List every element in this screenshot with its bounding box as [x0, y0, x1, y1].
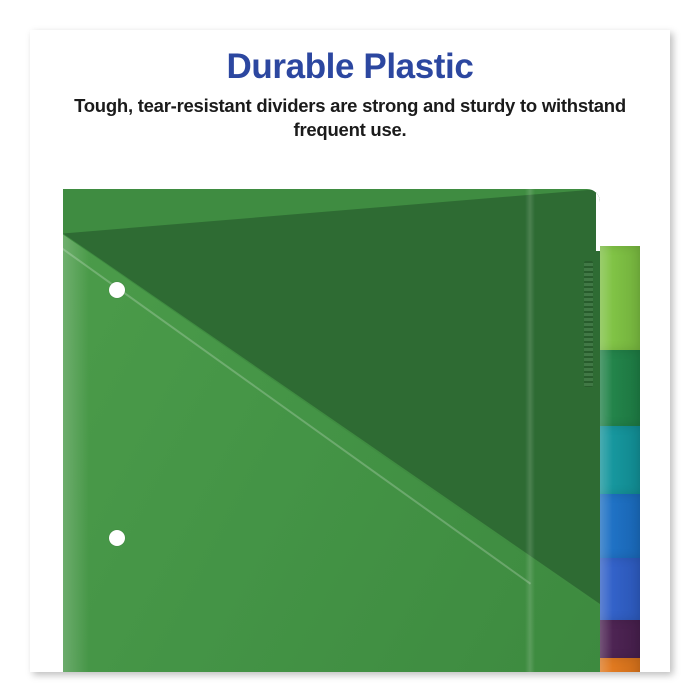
tab-teal: [596, 426, 640, 494]
tab-lime-green: [596, 246, 640, 350]
tab-blue: [596, 494, 640, 558]
punch-hole-bottom: [109, 530, 125, 546]
product-image-stage: Durable Plastic Tough, tear-resistant di…: [0, 0, 700, 700]
left-edge-sheen: [63, 189, 89, 672]
tab-royal-blue: [596, 558, 640, 620]
tab-dark-green: [596, 350, 640, 426]
reinforced-rib-strip: [584, 261, 593, 387]
tab-orange: [596, 658, 640, 672]
tab-purple: [596, 620, 640, 658]
punch-hole-top: [109, 282, 125, 298]
tab-notch: [596, 189, 600, 251]
gloss-highlight: [525, 189, 535, 672]
product-photo: [30, 30, 670, 672]
index-tab-stack: [596, 218, 640, 672]
product-card: Durable Plastic Tough, tear-resistant di…: [30, 30, 670, 672]
green-pocket-divider: [63, 189, 600, 672]
